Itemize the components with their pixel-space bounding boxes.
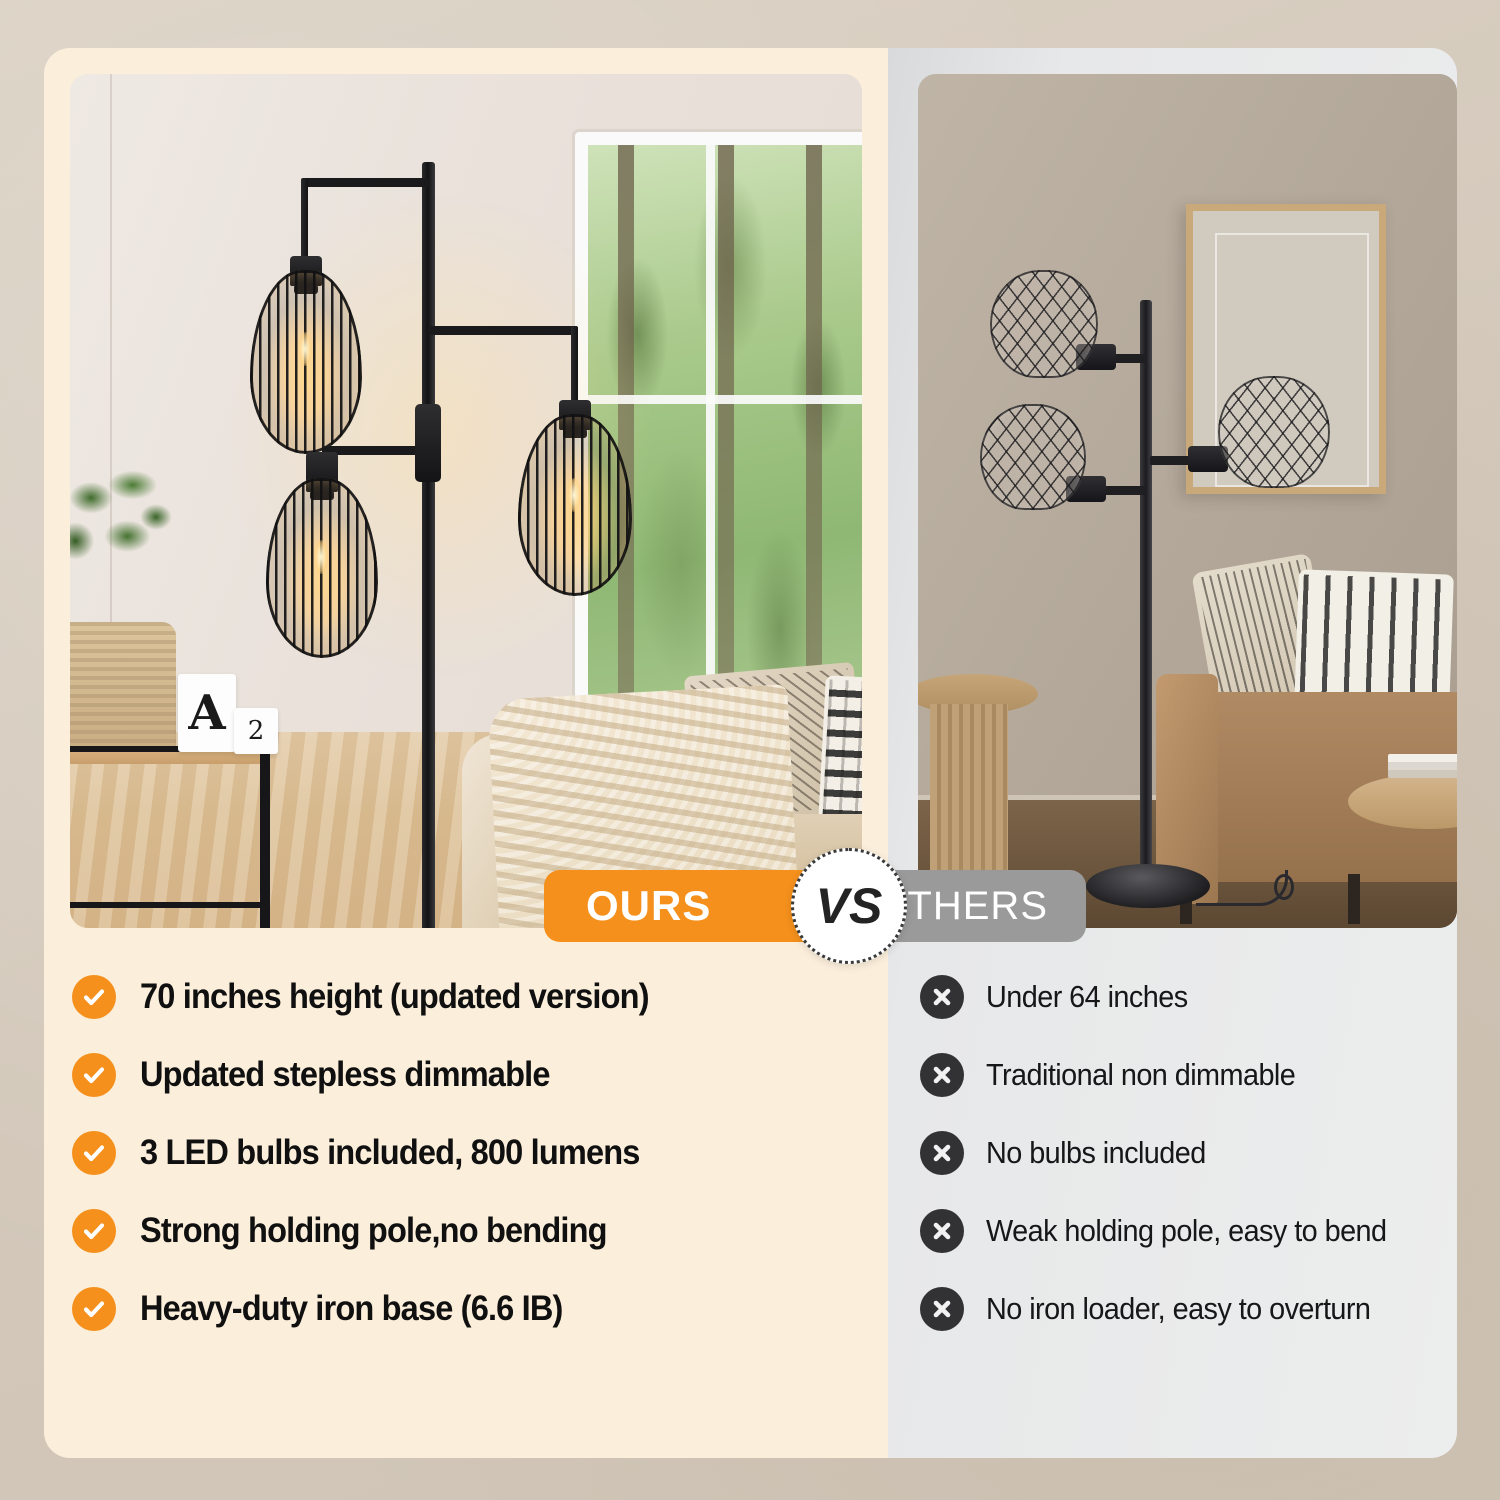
lamp-arm [1100,486,1146,495]
feature-row: Updated stepless dimmable [72,1036,848,1114]
lamp-pole [1140,300,1152,880]
wire-cage-shade [1218,376,1330,488]
check-circle-icon [72,975,116,1019]
vs-circle: VS [791,848,907,964]
check-circle-icon [72,1209,116,1253]
feature-row: Traditional non dimmable [920,1036,1443,1114]
wire-cage-shade [990,270,1098,378]
number-mug: 2 [234,708,278,754]
others-panel: Under 64 inches Traditional non dimmable… [888,48,1457,1458]
check-circle-icon [72,1287,116,1331]
feature-label: Updated stepless dimmable [140,1055,550,1095]
ours-product-photo: A 2 [70,74,862,928]
feature-label: 3 LED bulbs included, 800 lumens [140,1133,640,1173]
feature-label: 70 inches height (updated version) [140,977,649,1017]
lamp-drop-rod [571,326,578,406]
feature-row: 3 LED bulbs included, 800 lumens [72,1114,848,1192]
check-circle-icon [72,1053,116,1097]
x-circle-icon [920,1209,964,1253]
feature-label: No iron loader, easy to overturn [986,1291,1370,1327]
x-circle-icon [920,1053,964,1097]
feature-row: Heavy-duty iron base (6.6 IB) [72,1270,848,1348]
console-table-rail [70,902,266,908]
lamp-drop-rod [301,178,308,262]
lamp-arm [428,326,578,335]
ours-feature-list: 70 inches height (updated version) Updat… [44,958,888,1348]
vs-badge: OURS OTHERS VS [544,870,1086,942]
ours-panel: A 2 [44,48,888,1458]
feature-row: Under 64 inches [920,958,1443,1036]
dimmer-switch [415,404,441,482]
feature-label: Weak holding pole, easy to bend [986,1213,1387,1249]
others-feature-list: Under 64 inches Traditional non dimmable… [888,958,1457,1348]
lit-bulb [567,478,581,512]
others-scene [918,74,1457,928]
feature-label: Under 64 inches [986,979,1188,1015]
letter-mug: A [178,674,236,752]
lamp-pole [422,162,435,928]
feature-label: Strong holding pole,no bending [140,1211,607,1251]
lit-bulb [298,332,312,366]
ours-pill: OURS [544,870,810,942]
feature-row: No bulbs included [920,1114,1443,1192]
lamp-arm [302,178,430,187]
wire-cage-shade [980,404,1086,510]
others-product-photo [918,74,1457,928]
stacked-books [1388,754,1457,778]
console-table-frame [70,746,270,928]
feature-row: No iron loader, easy to overturn [920,1270,1443,1348]
potted-plant [70,469,182,629]
woven-basket [70,622,176,752]
lamp-base [1086,864,1210,908]
comparison-board: A 2 [44,48,1457,1458]
x-circle-icon [920,975,964,1019]
check-circle-icon [72,1131,116,1175]
sofa-leg [1348,874,1360,924]
x-circle-icon [920,1131,964,1175]
x-circle-icon [920,1287,964,1331]
feature-row: Weak holding pole, easy to bend [920,1192,1443,1270]
feature-label: No bulbs included [986,1135,1206,1171]
ours-scene: A 2 [70,74,862,928]
power-plug [1274,874,1294,900]
feature-row: 70 inches height (updated version) [72,958,848,1036]
lit-bulb [314,540,328,574]
feature-label: Traditional non dimmable [986,1057,1295,1093]
feature-label: Heavy-duty iron base (6.6 IB) [140,1289,563,1329]
feature-row: Strong holding pole,no bending [72,1192,848,1270]
aztec-pillow [818,675,862,828]
